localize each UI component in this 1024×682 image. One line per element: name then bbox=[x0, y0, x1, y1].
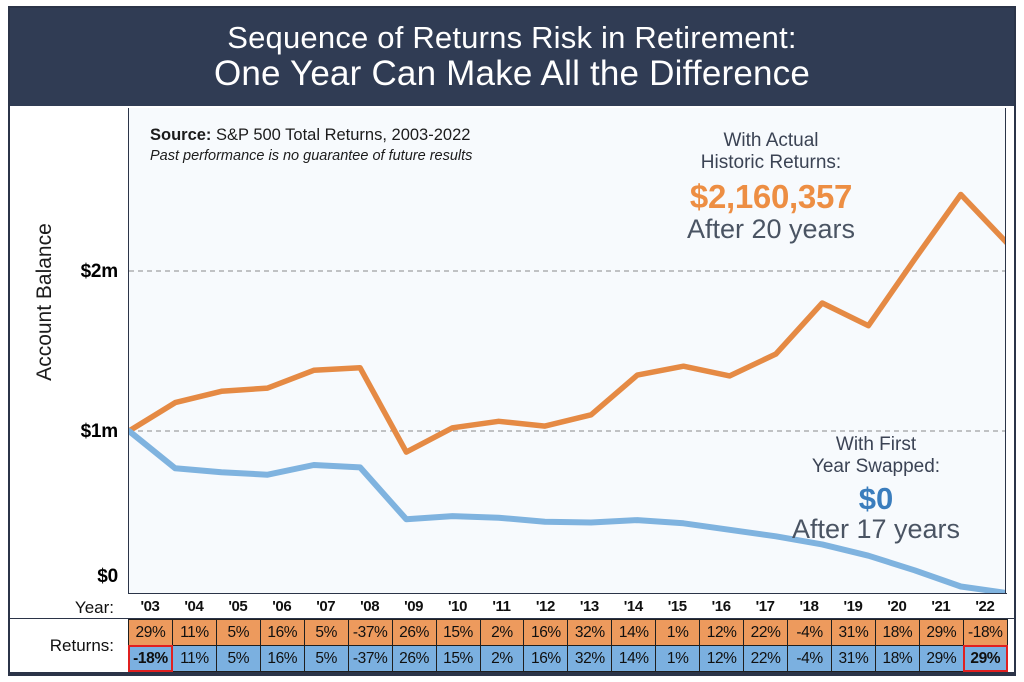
annotation-swapped-line2: Year Swapped: bbox=[748, 456, 1004, 478]
source-line: Source: S&P 500 Total Returns, 2003-2022 bbox=[150, 126, 472, 145]
year-cell: '14 bbox=[611, 594, 655, 618]
year-cell: '11 bbox=[480, 594, 524, 618]
title-banner: Sequence of Returns Risk in Retirement: … bbox=[10, 8, 1014, 106]
return-cell: 26% bbox=[392, 620, 436, 646]
return-cell: 29% bbox=[919, 646, 963, 672]
annotation-swapped-returns: With First Year Swapped: $0 After 17 yea… bbox=[748, 434, 1004, 545]
return-cell: 14% bbox=[612, 646, 656, 672]
annotation-actual-returns: With Actual Historic Returns: $2,160,357… bbox=[606, 130, 936, 245]
year-cell: '16 bbox=[699, 594, 743, 618]
return-cell: 31% bbox=[832, 620, 876, 646]
return-cell: 15% bbox=[436, 646, 480, 672]
year-cell: '08 bbox=[348, 594, 392, 618]
year-cell: '13 bbox=[567, 594, 611, 618]
return-cell: 16% bbox=[524, 646, 568, 672]
return-cell: 11% bbox=[172, 646, 216, 672]
return-cell: 1% bbox=[656, 620, 700, 646]
return-cell: -18% bbox=[963, 620, 1007, 646]
return-cell: 12% bbox=[700, 646, 744, 672]
return-cell: 2% bbox=[480, 646, 524, 672]
return-cell: 5% bbox=[304, 646, 348, 672]
year-cell: '07 bbox=[304, 594, 348, 618]
table-bottom-line bbox=[10, 672, 1014, 674]
return-cell: 14% bbox=[612, 620, 656, 646]
annotation-actual-line1: With Actual bbox=[606, 130, 936, 152]
year-cell: '18 bbox=[787, 594, 831, 618]
return-cell: -37% bbox=[348, 646, 392, 672]
return-cell: 18% bbox=[875, 646, 919, 672]
return-cell: -18% bbox=[129, 646, 173, 672]
return-cell: 12% bbox=[700, 620, 744, 646]
returns-row-label: Returns: bbox=[0, 636, 120, 656]
return-cell: 5% bbox=[216, 620, 260, 646]
table-row: -18%11%5%16%5%-37%26%15%2%16%32%14%1%12%… bbox=[129, 646, 1008, 672]
return-cell: 32% bbox=[568, 620, 612, 646]
source-block: Source: S&P 500 Total Returns, 2003-2022… bbox=[150, 126, 472, 164]
return-cell: 18% bbox=[875, 620, 919, 646]
annotation-actual-line2: Historic Returns: bbox=[606, 152, 936, 174]
return-cell: 22% bbox=[744, 646, 788, 672]
return-cell: 2% bbox=[480, 620, 524, 646]
return-cell: 15% bbox=[436, 620, 480, 646]
return-cell: 1% bbox=[656, 646, 700, 672]
year-cell: '06 bbox=[260, 594, 304, 618]
infographic-root: Sequence of Returns Risk in Retirement: … bbox=[0, 0, 1024, 682]
annotation-actual-after: After 20 years bbox=[606, 214, 936, 245]
year-cell: '21 bbox=[919, 594, 963, 618]
return-cell: 5% bbox=[216, 646, 260, 672]
return-cell: 31% bbox=[832, 646, 876, 672]
annotation-actual-amount: $2,160,357 bbox=[606, 178, 936, 216]
return-cell: 22% bbox=[744, 620, 788, 646]
year-header-row: '03'04'05'06'07'08'09'10'11'12'13'14'15'… bbox=[128, 594, 1007, 618]
year-cell: '05 bbox=[216, 594, 260, 618]
y-axis-title: Account Balance bbox=[33, 162, 57, 442]
year-cell: '22 bbox=[963, 594, 1007, 618]
table-row: '03'04'05'06'07'08'09'10'11'12'13'14'15'… bbox=[128, 594, 1007, 618]
source-disclaimer: Past performance is no guarantee of futu… bbox=[150, 148, 472, 164]
table-row: 29%11%5%16%5%-37%26%15%2%16%32%14%1%12%2… bbox=[129, 620, 1008, 646]
y-tick-2m: $2m bbox=[58, 261, 118, 283]
year-cell: '10 bbox=[436, 594, 480, 618]
year-cell: '19 bbox=[831, 594, 875, 618]
title-line-2: One Year Can Make All the Difference bbox=[214, 56, 810, 92]
year-cell: '15 bbox=[655, 594, 699, 618]
annotation-swapped-line1: With First bbox=[748, 434, 1004, 456]
return-cell: 29% bbox=[919, 620, 963, 646]
return-cell: 16% bbox=[524, 620, 568, 646]
y-tick-0: $0 bbox=[58, 566, 118, 588]
return-cell: -37% bbox=[348, 620, 392, 646]
return-cell: -4% bbox=[788, 620, 832, 646]
return-cell: 11% bbox=[172, 620, 216, 646]
annotation-swapped-amount: $0 bbox=[748, 481, 1004, 517]
annotation-swapped-after: After 17 years bbox=[748, 514, 1004, 545]
year-cell: '03 bbox=[128, 594, 172, 618]
return-cell: -4% bbox=[788, 646, 832, 672]
year-row-label: Year: bbox=[0, 598, 120, 618]
source-label: Source: bbox=[150, 126, 211, 144]
year-cell: '04 bbox=[172, 594, 216, 618]
return-cell: 26% bbox=[392, 646, 436, 672]
return-cell: 32% bbox=[568, 646, 612, 672]
return-cell: 29% bbox=[129, 620, 173, 646]
return-cell: 16% bbox=[260, 620, 304, 646]
source-text: S&P 500 Total Returns, 2003-2022 bbox=[211, 126, 470, 144]
return-cell: 5% bbox=[304, 620, 348, 646]
returns-table: 29%11%5%16%5%-37%26%15%2%16%32%14%1%12%2… bbox=[128, 619, 1008, 672]
year-cell: '09 bbox=[392, 594, 436, 618]
year-cell: '12 bbox=[523, 594, 567, 618]
year-cell: '17 bbox=[743, 594, 787, 618]
title-line-1: Sequence of Returns Risk in Retirement: bbox=[227, 22, 797, 54]
year-cell: '20 bbox=[875, 594, 919, 618]
return-cell: 16% bbox=[260, 646, 304, 672]
y-tick-1m: $1m bbox=[58, 421, 118, 443]
return-cell: 29% bbox=[963, 646, 1007, 672]
